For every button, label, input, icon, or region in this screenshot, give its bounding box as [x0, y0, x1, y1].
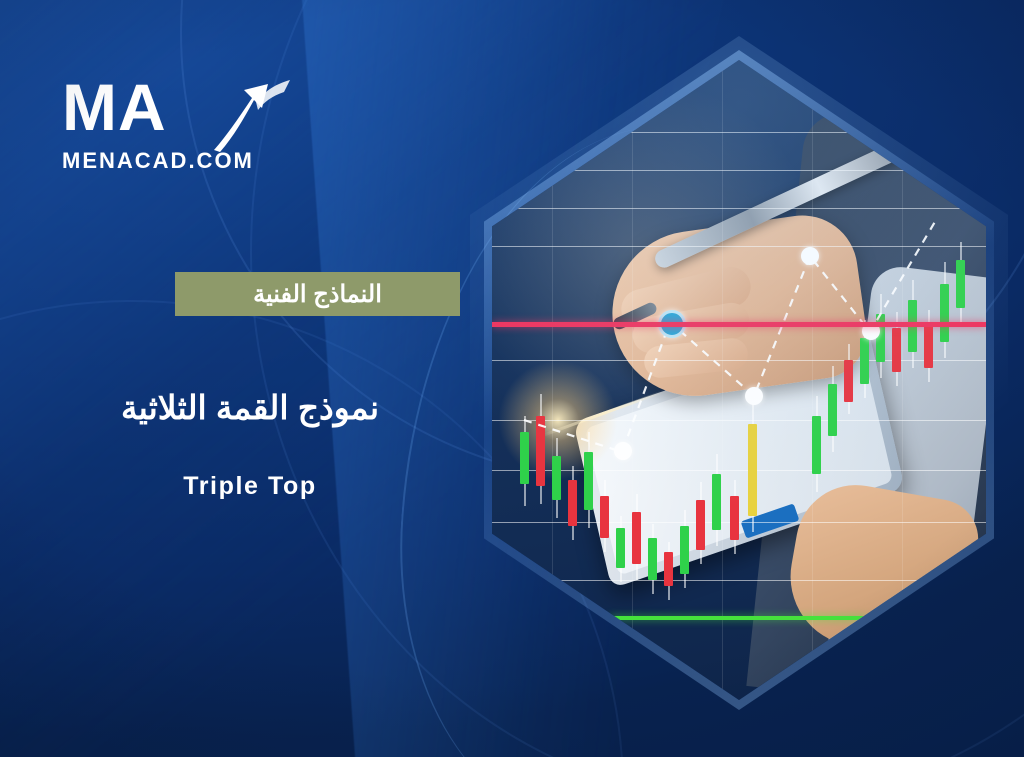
poster-canvas: MA MENACAD.COM النماذج الفنية نموذج القم… [0, 0, 1024, 757]
vignette-overlay [0, 0, 1024, 757]
